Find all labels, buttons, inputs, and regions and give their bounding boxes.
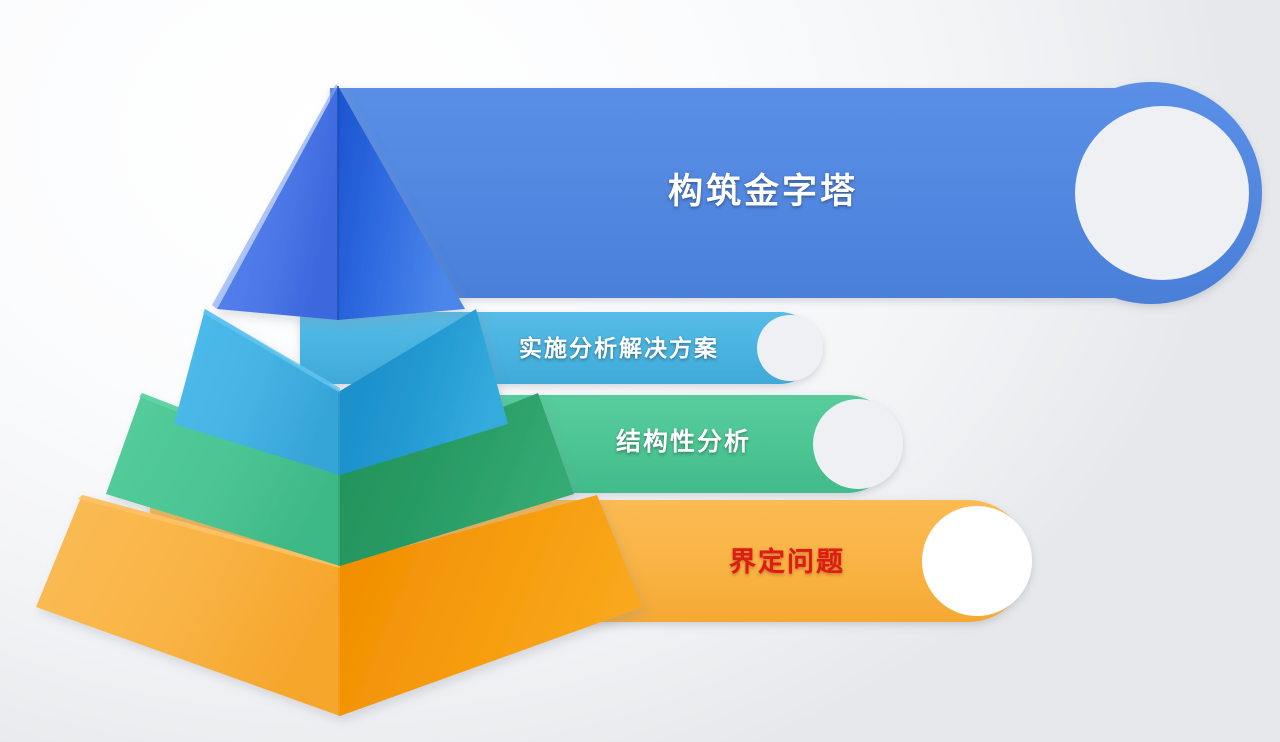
slide-canvas: 构筑金字塔 实施分析解决方案 结构性分析 界定问题 — [0, 0, 1280, 742]
pyramid-label-level-1: 构筑金字塔 — [668, 163, 858, 214]
pyramid-level-1-apex[interactable] — [212, 84, 465, 320]
pyramid-label-level-3: 结构性分析 — [616, 422, 751, 458]
pyramid-label-level-4: 界定问题 — [729, 540, 845, 579]
pyramid-graphic — [0, 0, 1280, 742]
pyramid-label-level-2: 实施分析解决方案 — [519, 329, 719, 363]
